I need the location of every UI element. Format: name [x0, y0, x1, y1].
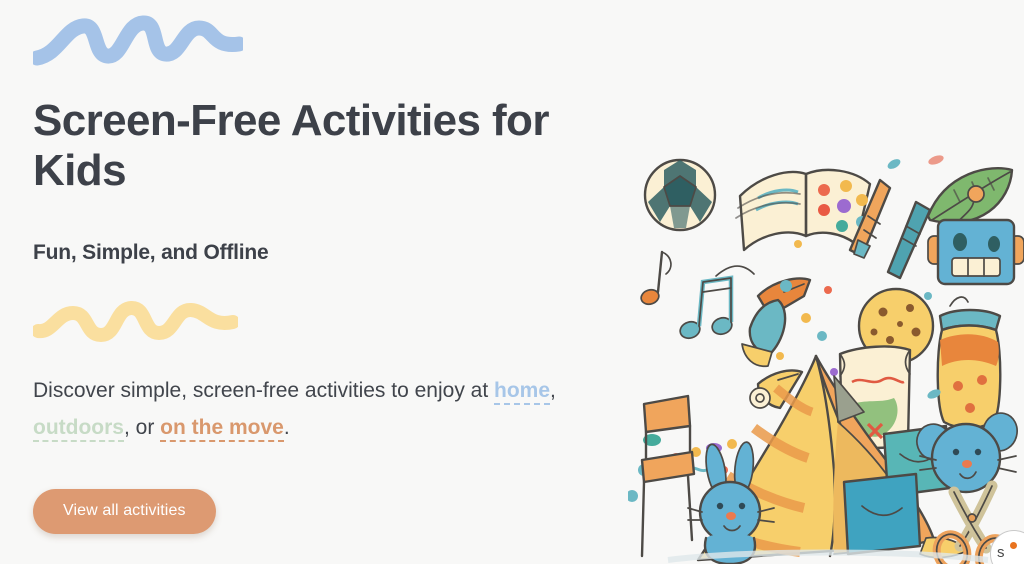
- hero-description: Discover simple, screen-free activities …: [33, 372, 593, 447]
- page-subtitle: Fun, Simple, and Offline: [33, 241, 269, 265]
- lede-prefix: Discover simple, screen-free activities …: [33, 379, 494, 402]
- link-on-the-move[interactable]: on the move: [160, 416, 284, 442]
- lede-sep-2: , or: [124, 416, 160, 439]
- widget-notification-dot: [1010, 542, 1017, 549]
- view-all-activities-button[interactable]: View all activities: [33, 489, 216, 534]
- soccer-ball-illustration: [645, 160, 715, 230]
- blue-squiggle-icon: [33, 14, 243, 66]
- yellow-squiggle-icon: [33, 297, 238, 347]
- widget-letter: s: [997, 544, 1005, 561]
- hero-page: Screen-Free Activities for Kids Fun, Sim…: [0, 0, 1024, 564]
- hero-illustration: .ink { stroke:#4d4a46; stroke-width:2.4;…: [628, 140, 1024, 564]
- jam-jar-illustration: [938, 297, 1001, 428]
- lede-sep-1: ,: [550, 379, 556, 402]
- music-notes-illustration: [639, 252, 734, 341]
- hero-text-column: Screen-Free Activities for Kids Fun, Sim…: [33, 0, 633, 564]
- page-title: Screen-Free Activities for Kids: [33, 96, 613, 195]
- lede-suffix: .: [284, 416, 290, 439]
- wooden-chair-illustration: [642, 396, 694, 556]
- crayon-illustration: [888, 202, 930, 278]
- open-book-illustration: [736, 170, 870, 250]
- link-outdoors[interactable]: outdoors: [33, 416, 124, 442]
- link-home[interactable]: home: [494, 379, 550, 405]
